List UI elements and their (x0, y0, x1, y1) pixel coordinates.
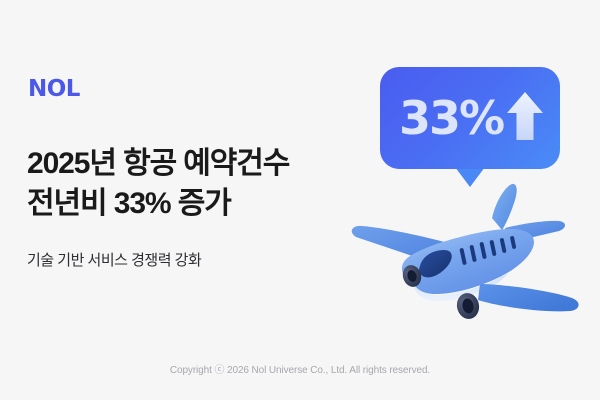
headline-line-1: 2025년 항공 예약건수 (27, 144, 367, 184)
airplane-3d-illustration (340, 180, 590, 330)
stat-badge: 33% (380, 67, 560, 187)
promo-banner: NOL 2025년 항공 예약건수 전년비 33% 증가 기술 기반 서비스 경… (0, 0, 600, 400)
headline-line-2: 전년비 33% 증가 (27, 184, 367, 224)
page-title: 2025년 항공 예약건수 전년비 33% 증가 (27, 144, 367, 223)
bubble-percent-value: 33% (399, 95, 503, 141)
arrow-up-icon (505, 90, 545, 147)
copyright-text: Copyright ⓒ 2026 Nol Universe Co., Ltd. … (0, 361, 600, 376)
nol-logo[interactable]: NOL (28, 78, 80, 101)
subtitle: 기술 기반 서비스 경쟁력 강화 (27, 250, 201, 271)
bubble-body: 33% (380, 67, 560, 169)
